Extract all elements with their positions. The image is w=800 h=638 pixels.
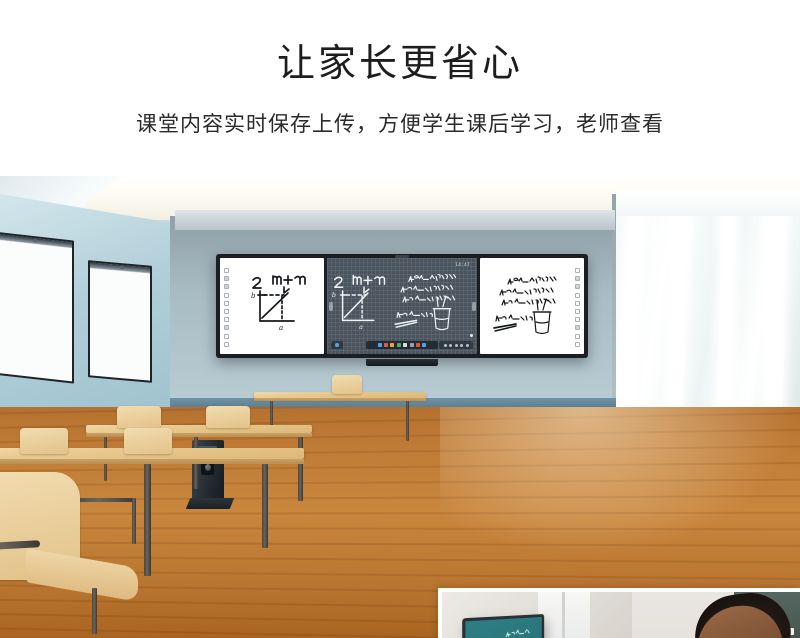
shape-icon[interactable]	[410, 343, 414, 347]
display-panel-left[interactable]: b a	[220, 258, 324, 354]
page-header: 让家长更省心 课堂内容实时保存上传，方便学生课后学习，老师查看	[0, 0, 800, 176]
window-header	[616, 190, 800, 216]
more-icon[interactable]	[466, 344, 469, 347]
classroom-scene-image: b a 14:47	[0, 176, 800, 638]
pen-icon[interactable]	[378, 343, 382, 347]
whiteboard-knob	[120, 266, 124, 269]
whiteboard-knob	[33, 239, 37, 242]
panel-right-handwriting	[480, 258, 584, 354]
laptop-screen-handwriting	[465, 617, 541, 638]
teacher-chair	[332, 375, 362, 394]
page-subtitle: 课堂内容实时保存上传，方便学生课后学习，老师查看	[0, 108, 800, 138]
save-icon[interactable]	[422, 343, 426, 347]
ceiling-soffit	[175, 210, 615, 230]
marker-icon[interactable]	[384, 343, 388, 347]
window-mullion	[765, 190, 784, 424]
home-icon[interactable]	[335, 343, 339, 347]
board-home-button[interactable]	[331, 341, 343, 349]
panel-left-handwriting: b a	[220, 258, 324, 354]
student-chair	[206, 406, 250, 428]
interactive-display-wall[interactable]: b a 14:47	[216, 254, 588, 358]
student-chair	[20, 428, 68, 454]
display-panel-right[interactable]	[480, 258, 584, 354]
wall-whiteboard-large	[0, 231, 74, 383]
image-icon[interactable]	[416, 343, 420, 347]
inset-photo-frame	[438, 588, 800, 638]
svg-text:a: a	[359, 324, 363, 331]
student-laptop-photo	[442, 592, 800, 638]
svg-text:a: a	[279, 324, 283, 332]
floor-light-reflection	[440, 407, 800, 557]
play-icon[interactable]	[449, 344, 452, 347]
next-icon[interactable]	[460, 344, 463, 347]
window-wall	[616, 190, 800, 424]
foreground-chair	[0, 472, 116, 592]
eraser-icon[interactable]	[403, 343, 407, 347]
display-wall-base	[366, 359, 438, 366]
smartboard-toolbar[interactable]	[366, 341, 438, 349]
board-page-controls[interactable]	[439, 341, 473, 349]
student-chair	[124, 428, 172, 454]
record-icon[interactable]	[455, 344, 458, 347]
room-window	[538, 592, 590, 638]
svg-text:b: b	[332, 291, 336, 299]
whiteboard-top-rail	[90, 262, 150, 273]
palette-icon[interactable]	[390, 343, 394, 347]
wall-whiteboard-small	[88, 260, 152, 383]
display-panel-center-smartboard[interactable]: 14:47	[327, 258, 477, 354]
student-chair	[117, 406, 161, 428]
laptop-screen	[462, 614, 544, 638]
page-title: 让家长更省心	[0, 42, 800, 88]
smartboard-handwriting: b a	[327, 258, 477, 352]
svg-text:b: b	[251, 292, 256, 300]
text-icon[interactable]	[397, 343, 401, 347]
prev-icon[interactable]	[444, 344, 447, 347]
